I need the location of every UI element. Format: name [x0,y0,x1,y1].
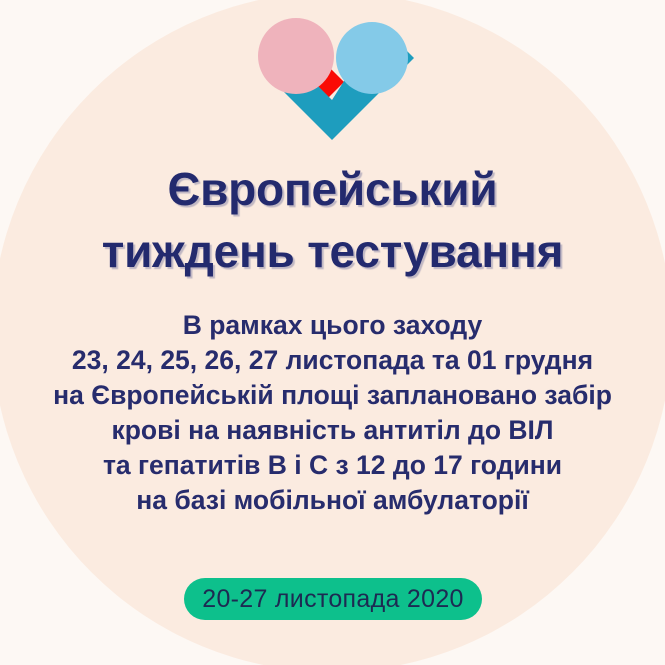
heart-logo [252,18,414,142]
event-description: В рамках цього заходу 23, 24, 25, 26, 27… [0,308,665,518]
date-badge-label: 20-27 листопада 2020 [202,587,464,612]
date-badge: 20-27 листопада 2020 [184,578,482,620]
heart-pink-circle [258,18,334,94]
heart-logo-graphic [252,18,414,142]
poster: Європейський тиждень тестування В рамках… [0,0,665,665]
heart-blue-circle [336,22,408,94]
page-title: Європейський тиждень тестування [0,158,665,282]
